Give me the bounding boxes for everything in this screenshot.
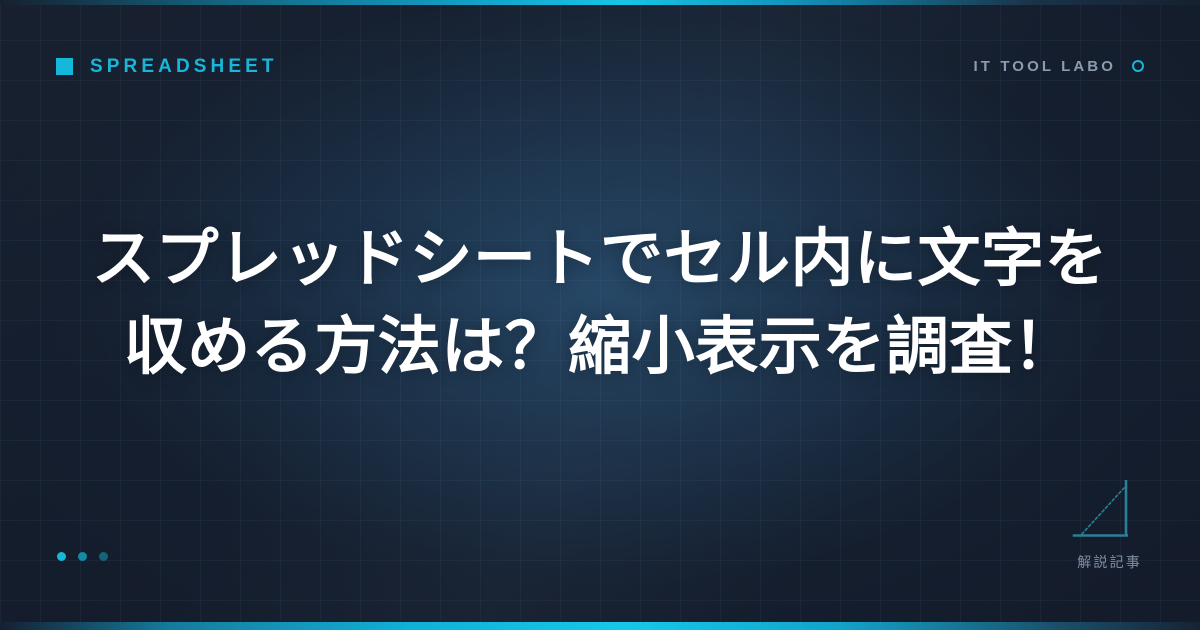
dot-2	[78, 552, 87, 561]
corner-bracket-icon	[1066, 480, 1128, 538]
square-icon	[56, 58, 73, 75]
bottom-accent-bar	[0, 622, 1200, 630]
og-card: SPREADSHEET IT TOOL LABO スプレッドシートでセル内に文字…	[0, 0, 1200, 630]
dot-1	[57, 552, 66, 561]
dot-3	[99, 552, 108, 561]
site-group: IT TOOL LABO	[974, 59, 1144, 74]
brand-group: SPREADSHEET	[56, 57, 278, 76]
header: SPREADSHEET IT TOOL LABO	[56, 52, 1144, 80]
corner-caption: 解説記事	[1077, 556, 1142, 570]
dot-indicator	[57, 552, 108, 561]
site-label: IT TOOL LABO	[974, 59, 1116, 74]
page-title: スプレッドシートでセル内に文字を 収める方法は？縮小表示を調査！	[0, 215, 1200, 391]
top-accent-bar	[0, 0, 1200, 5]
brand-label: SPREADSHEET	[90, 57, 278, 76]
title-line-1: スプレッドシートでセル内に文字を	[60, 215, 1140, 303]
circle-outline-icon	[1132, 60, 1144, 72]
title-line-2: 収める方法は？縮小表示を調査！	[60, 303, 1140, 391]
